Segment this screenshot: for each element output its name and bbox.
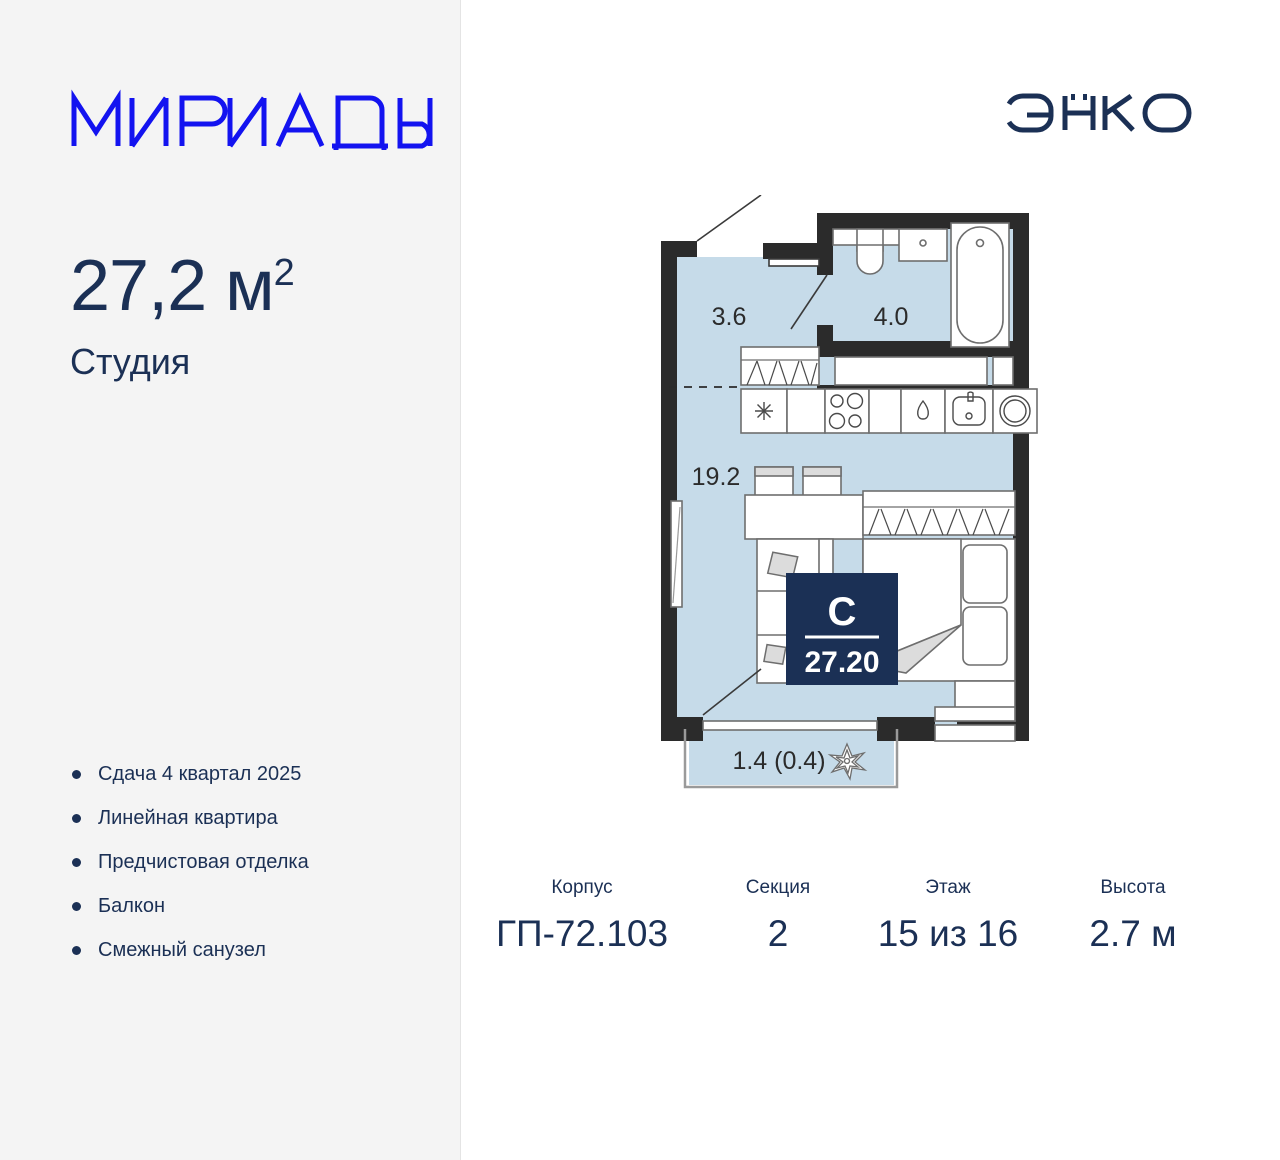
floorplan-drawing[interactable]: 3.6 4.0 19.2 1.4 (0.4) С 27.20 (651, 195, 1051, 835)
fridge-star-icon (755, 402, 773, 420)
spec-value: ГП-72.103 (461, 915, 703, 952)
kitchen-sink-icon (945, 389, 993, 433)
bullet-icon (72, 814, 81, 823)
room-area-hall: 3.6 (712, 303, 747, 331)
area-summary: 27,2 м2 Студия (70, 250, 294, 380)
spec-value: 2.7 м (1043, 915, 1223, 952)
bullet-icon (72, 770, 81, 779)
features-list: Сдача 4 квартал 2025 Линейная квартира П… (72, 752, 309, 972)
spec-sekciya: Секция 2 (703, 878, 853, 952)
list-item: Балкон (72, 884, 309, 928)
toilet-icon (857, 245, 883, 274)
dining-table (745, 495, 863, 539)
spec-label: Секция (703, 878, 853, 897)
dishwasher-icon (901, 389, 945, 433)
kitchen-units (741, 389, 1037, 433)
cabinet (869, 389, 901, 433)
spec-label: Этаж (853, 878, 1043, 897)
spec-label: Корпус (461, 878, 703, 897)
area-unit-superscript: 2 (274, 252, 294, 294)
feature-label: Смежный санузел (98, 940, 266, 960)
feature-label: Балкон (98, 896, 165, 916)
bullet-icon (72, 946, 81, 955)
bedroom-wardrobe (863, 491, 1015, 535)
bathtub-icon (957, 227, 1003, 343)
kitchen-upper-cabinets (835, 357, 1013, 385)
floorplan-page: 27,2 м2 Студия Сдача 4 квартал 2025 Лине… (0, 0, 1280, 1160)
badge-area: 27.20 (804, 646, 879, 679)
spec-label: Высота (1043, 878, 1223, 897)
left-info-panel: 27,2 м2 Студия Сдача 4 квартал 2025 Лине… (0, 0, 461, 1160)
wall-radiator-icon (671, 501, 682, 607)
spec-etazh: Этаж 15 из 16 (853, 878, 1043, 952)
right-plan-panel: 3.6 4.0 19.2 1.4 (0.4) С 27.20 Корпус ГП… (461, 0, 1280, 1160)
cabinet (787, 389, 825, 433)
brand-logo-miriady[interactable] (70, 88, 434, 150)
spec-value: 2 (703, 915, 853, 952)
list-item: Предчистовая отделка (72, 840, 309, 884)
bullet-icon (72, 858, 81, 867)
entry-door-icon (697, 195, 761, 241)
feature-label: Линейная квартира (98, 808, 278, 828)
room-area-balcony: 1.4 (0.4) (732, 747, 825, 775)
badge-letter: С (828, 590, 857, 634)
specs-row: Корпус ГП-72.103 Секция 2 Этаж 15 из 16 … (461, 878, 1280, 952)
developer-logo-enko[interactable] (1001, 92, 1193, 138)
hall-wardrobe (741, 347, 819, 385)
room-area-living: 19.2 (692, 463, 741, 491)
bullet-icon (72, 902, 81, 911)
apartment-area: 27,2 м2 (70, 250, 294, 322)
spec-korpus: Корпус ГП-72.103 (461, 878, 703, 952)
list-item: Смежный санузел (72, 928, 309, 972)
apartment-type: Студия (70, 344, 294, 380)
feature-label: Предчистовая отделка (98, 852, 309, 872)
feature-label: Сдача 4 квартал 2025 (98, 764, 301, 784)
room-area-bathroom: 4.0 (874, 303, 909, 331)
list-item: Линейная квартира (72, 796, 309, 840)
status-badge: С 27.20 (786, 573, 898, 685)
spec-vysota: Высота 2.7 м (1043, 878, 1223, 952)
list-item: Сдача 4 квартал 2025 (72, 752, 309, 796)
sink-icon (899, 229, 947, 261)
spec-value: 15 из 16 (853, 915, 1043, 952)
apartment-area-number: 27,2 м (70, 246, 274, 326)
